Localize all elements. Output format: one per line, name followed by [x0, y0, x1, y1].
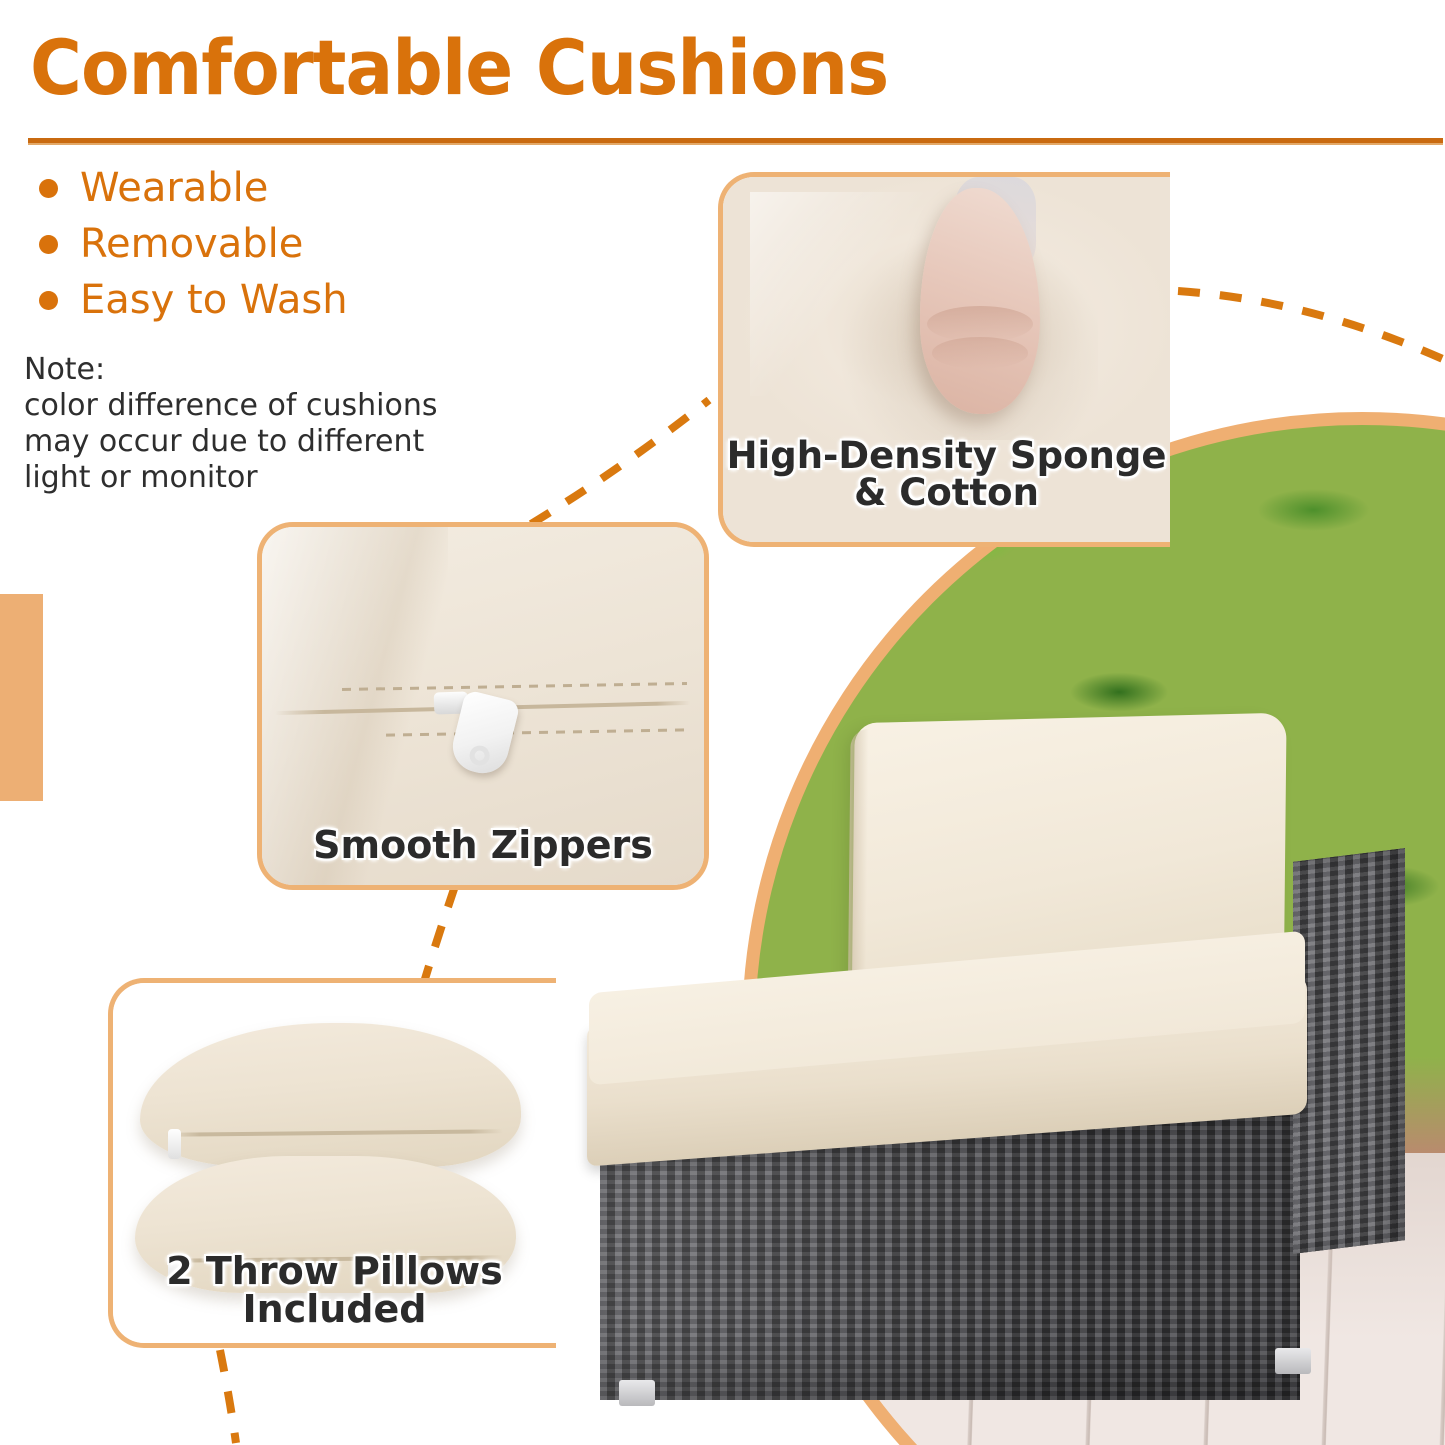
list-item: Easy to Wash [30, 272, 460, 328]
callout-caption: Smooth Zippers [262, 826, 704, 865]
pillow-zipper-tab-top [168, 1129, 181, 1159]
title-divider-rule [28, 138, 1443, 143]
callout-smooth-zippers[interactable]: Smooth Zippers [257, 522, 709, 890]
sofa-rattan-arm [1293, 848, 1405, 1254]
bullet-dot-icon [39, 179, 58, 198]
note-line-2: may occur due to different [24, 424, 424, 460]
callout-caption-line-2: & Cotton [723, 474, 1170, 512]
infographic-canvas: Comfortable Cushions Wearable Removable … [0, 0, 1445, 1445]
callout-caption: High-Density Sponge & Cotton [723, 437, 1170, 512]
note-block: Note: color difference of cushions may o… [24, 352, 424, 496]
callout-high-density-sponge[interactable]: High-Density Sponge & Cotton [718, 172, 1170, 547]
list-item: Removable [30, 216, 460, 272]
page-title: Comfortable Cushions [30, 26, 888, 110]
connector-sponge-to-photo [1178, 291, 1445, 360]
connector-pillows-to-photo [220, 1350, 236, 1443]
bullet-label: Easy to Wash [80, 278, 348, 322]
sofa-foot-left [619, 1380, 655, 1406]
bullet-label: Removable [80, 222, 303, 266]
bullet-dot-icon [39, 291, 58, 310]
bullet-dot-icon [39, 235, 58, 254]
connector-zipper-to-sponge [531, 400, 709, 524]
sofa-foot-right [1275, 1348, 1311, 1374]
callout-throw-pillows[interactable]: 2 Throw Pillows Included [108, 978, 556, 1348]
feature-bullet-list: Wearable Removable Easy to Wash [30, 160, 460, 328]
callout-caption-line-1: High-Density Sponge [723, 437, 1170, 475]
callout-caption: 2 Throw Pillows Included [113, 1252, 556, 1330]
left-accent-tab [0, 594, 43, 801]
list-item: Wearable [30, 160, 460, 216]
note-line-3: light or monitor [24, 460, 424, 496]
bullet-label: Wearable [80, 166, 268, 210]
note-line-1: color difference of cushions [24, 388, 424, 424]
note-heading: Note: [24, 352, 424, 388]
